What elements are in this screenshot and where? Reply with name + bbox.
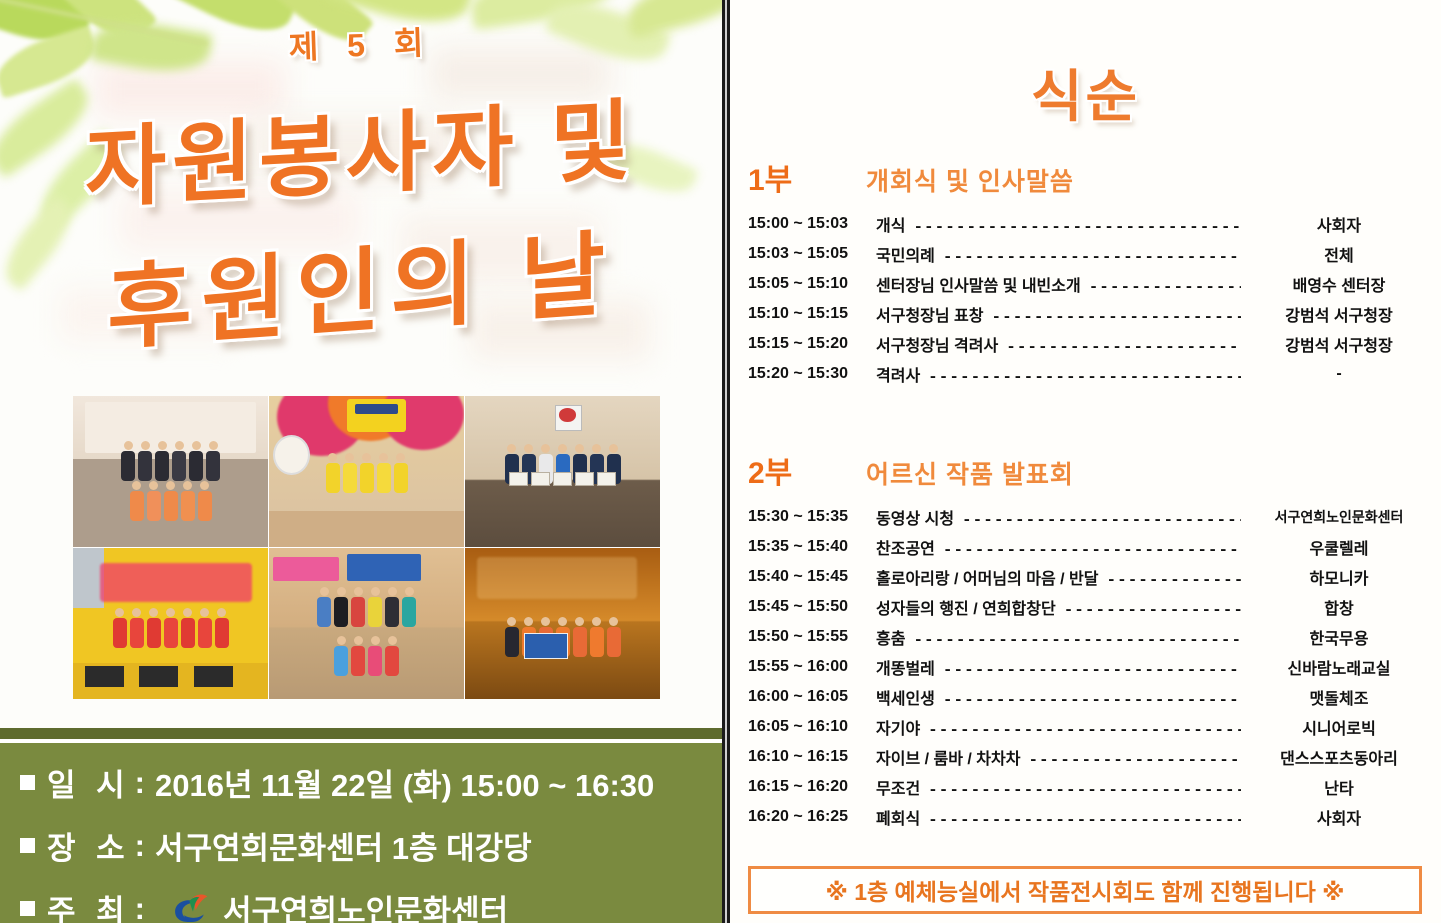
program-item: 개식 -------------------------------------… xyxy=(876,212,1241,236)
program-item: 성자들의 행진 / 연희합창단 ------------------------… xyxy=(876,595,1241,619)
info-row-organizer: 주 최 : 서구연희노인문화센터 xyxy=(20,886,710,923)
collage-photo-caption: 표창장 수여 기념촬영 xyxy=(465,530,660,543)
program-item-name: 서구청장님 표창 xyxy=(876,302,984,326)
program-item-name: 백세인생 xyxy=(876,685,935,709)
program-time: 16:20 ~ 16:25 xyxy=(748,808,876,826)
program-item: 백세인생 -----------------------------------… xyxy=(876,685,1241,709)
program-performer: 전체 xyxy=(1241,242,1437,266)
program-row: 15:55 ~ 16:00 개똥벌레 ---------------------… xyxy=(730,652,1441,682)
square-bullet-icon xyxy=(20,838,35,853)
program-performer: 시니어로빅 xyxy=(1241,715,1437,739)
square-bullet-icon xyxy=(20,901,35,916)
program-item: 개똥벌레 -----------------------------------… xyxy=(876,655,1241,679)
program-time: 15:00 ~ 15:03 xyxy=(748,215,876,233)
program-item: 폐회식 ------------------------------------… xyxy=(876,805,1241,829)
program-item-name: 개똥벌레 xyxy=(876,655,935,679)
program-row: 15:30 ~ 15:35 동영상 시청 -------------------… xyxy=(730,502,1441,532)
program-item: 격려사 ------------------------------------… xyxy=(876,362,1241,386)
info-value-datetime: 2016년 11월 22일 (화) 15:00 ~ 16:30 xyxy=(155,760,654,805)
section-title: 개회식 및 인사말씀 xyxy=(866,162,1074,198)
info-colon: : xyxy=(135,765,145,801)
section-rows: 15:30 ~ 15:35 동영상 시청 -------------------… xyxy=(730,502,1441,832)
dotted-leader: ----------------------------------------… xyxy=(943,248,1241,266)
dotted-leader: ----------------------------------------… xyxy=(913,631,1241,649)
program-item-name: 홀로아리랑 / 어머님의 마음 / 반달 xyxy=(876,565,1098,589)
program-item-name: 센터장님 인사말씀 및 내빈소개 xyxy=(876,272,1081,296)
event-info-list: 일 시 : 2016년 11월 22일 (화) 15:00 ~ 16:30 장 … xyxy=(20,760,710,923)
program-item: 국민의례 -----------------------------------… xyxy=(876,242,1241,266)
dotted-leader: ----------------------------------------… xyxy=(943,541,1241,559)
program-section-1: 1부 개회식 및 인사말씀 15:00 ~ 15:03 개식 ---------… xyxy=(730,155,1441,389)
info-colon: : xyxy=(135,891,145,923)
dotted-leader: ----------------------------------------… xyxy=(928,781,1241,799)
program-time: 15:35 ~ 15:40 xyxy=(748,538,876,556)
program-row: 15:50 ~ 15:55 흥춤 -----------------------… xyxy=(730,622,1441,652)
program-time: 16:10 ~ 16:15 xyxy=(748,748,876,766)
dotted-leader: ----------------------------------------… xyxy=(928,811,1241,829)
info-box-top-band xyxy=(0,728,722,739)
program-performer: 서구연희노인문화센터 xyxy=(1241,507,1437,527)
left-panel: 제 5 회 자원봉사자 및 후원인의 날 xyxy=(0,0,722,923)
program-item-name: 격려사 xyxy=(876,362,920,386)
program-item: 무조건 ------------------------------------… xyxy=(876,775,1241,799)
program-item-name: 개식 xyxy=(876,212,905,236)
event-info-box: 일 시 : 2016년 11월 22일 (화) 15:00 ~ 16:30 장 … xyxy=(0,728,722,923)
exhibition-notice-text: ※ 1층 예체능실에서 작품전시회도 함께 진행됩니다 ※ xyxy=(825,873,1344,907)
program-time: 15:50 ~ 15:55 xyxy=(748,628,876,646)
dotted-leader: ----------------------------------------… xyxy=(962,511,1241,529)
program-performer: 하모니카 xyxy=(1241,565,1437,589)
collage-photo-caption: 서구연희노인문화센터 체육행사 xyxy=(269,682,464,695)
program-row: 16:05 ~ 16:10 자기야 ----------------------… xyxy=(730,712,1441,742)
program-row: 15:03 ~ 15:05 국민의례 ---------------------… xyxy=(730,239,1441,269)
square-bullet-icon xyxy=(20,775,35,790)
info-box-divider-line xyxy=(0,739,722,743)
dotted-leader: ----------------------------------------… xyxy=(928,368,1241,386)
collage-photo: 서구 평생학습 축제 우수상 수상 xyxy=(465,548,660,699)
program-time: 15:05 ~ 15:10 xyxy=(748,275,876,293)
program-time: 16:15 ~ 16:20 xyxy=(748,778,876,796)
collage-photo: 제7회 서구복지 바람회 무대공연 xyxy=(73,548,268,699)
program-row: 15:20 ~ 15:30 격려사 ----------------------… xyxy=(730,359,1441,389)
program-row: 16:15 ~ 16:20 무조건 ----------------------… xyxy=(730,772,1441,802)
program-row: 16:00 ~ 16:05 백세인생 ---------------------… xyxy=(730,682,1441,712)
section-number: 2부 xyxy=(748,448,866,492)
section-header: 1부 개회식 및 인사말씀 xyxy=(730,155,1441,199)
program-time: 15:45 ~ 15:50 xyxy=(748,598,876,616)
program-row: 15:15 ~ 15:20 서구청장님 격려사 ----------------… xyxy=(730,329,1441,359)
seogu-logo-icon xyxy=(171,892,215,923)
program-item-name: 찬조공연 xyxy=(876,535,935,559)
program-performer: 신바람노래교실 xyxy=(1241,655,1437,679)
info-label-organizer: 주 최 xyxy=(47,886,131,923)
collage-photo-caption: 서구 평생학습 축제 우수상 수상 xyxy=(465,682,660,695)
info-value-organizer: 서구연희노인문화센터 xyxy=(223,886,508,923)
program-time: 15:20 ~ 15:30 xyxy=(748,365,876,383)
program-time: 15:30 ~ 15:35 xyxy=(748,508,876,526)
section-header: 2부 어르신 작품 발표회 xyxy=(730,448,1441,492)
program-performer: 강범석 서구청장 xyxy=(1241,332,1437,356)
program-row: 15:45 ~ 15:50 성자들의 행진 / 연희합창단 ----------… xyxy=(730,592,1441,622)
program-item-name: 서구청장님 격려사 xyxy=(876,332,998,356)
dotted-leader: ----------------------------------------… xyxy=(943,661,1241,679)
program-item: 찬조공연 -----------------------------------… xyxy=(876,535,1241,559)
program-item: 자기야 ------------------------------------… xyxy=(876,715,1241,739)
program-performer: 난타 xyxy=(1241,775,1437,799)
collage-photo: 서구연희노인문화센터 체육행사 xyxy=(269,548,464,699)
program-title: 식순 xyxy=(730,52,1441,133)
collage-photo-caption: 2016 한울실버 배움축제 단체사진 xyxy=(73,530,268,543)
program-item-name: 동영상 시청 xyxy=(876,505,954,529)
dotted-leader: ----------------------------------------… xyxy=(1006,338,1241,356)
section-number: 1부 xyxy=(748,155,866,199)
poster-title-block: 제 5 회 자원봉사자 및 후원인의 날 xyxy=(0,0,722,350)
program-time: 15:03 ~ 15:05 xyxy=(748,245,876,263)
title-ordinal: 제 5 회 xyxy=(0,7,722,78)
dotted-leader: ----------------------------------------… xyxy=(1028,751,1241,769)
dotted-leader: ----------------------------------------… xyxy=(913,218,1241,236)
program-time: 16:00 ~ 16:05 xyxy=(748,688,876,706)
program-row: 16:20 ~ 16:25 폐회식 ----------------------… xyxy=(730,802,1441,832)
info-label-location: 장 소 xyxy=(47,823,131,868)
program-item: 홀로아리랑 / 어머님의 마음 / 반달 -------------------… xyxy=(876,565,1241,589)
collage-photo-caption: 도전! 청춘 골든벨 노란티 참가자 xyxy=(269,530,464,543)
program-item: 센터장님 인사말씀 및 내빈소개 -----------------------… xyxy=(876,272,1241,296)
program-item: 동영상 시청 ---------------------------------… xyxy=(876,505,1241,529)
exhibition-notice-box: ※ 1층 예체능실에서 작품전시회도 함께 진행됩니다 ※ xyxy=(748,866,1422,914)
dotted-leader: ----------------------------------------… xyxy=(943,691,1241,709)
collage-photo: 표창장 수여 기념촬영 xyxy=(465,396,660,547)
program-item-name: 자이브 / 룸바 / 차차차 xyxy=(876,745,1020,769)
program-row: 15:40 ~ 15:45 홀로아리랑 / 어머님의 마음 / 반달 -----… xyxy=(730,562,1441,592)
program-performer: 우쿨렐레 xyxy=(1241,535,1437,559)
program-item: 자이브 / 룸바 / 차차차 -------------------------… xyxy=(876,745,1241,769)
dotted-leader: ----------------------------------------… xyxy=(1106,571,1241,589)
collage-photo-caption: 제7회 서구복지 바람회 무대공연 xyxy=(73,682,268,695)
program-item: 서구청장님 표창 -------------------------------… xyxy=(876,302,1241,326)
program-performer: 댄스스포츠동아리 xyxy=(1241,745,1437,769)
program-time: 16:05 ~ 16:10 xyxy=(748,718,876,736)
program-item: 흥춤 -------------------------------------… xyxy=(876,625,1241,649)
dotted-leader: ----------------------------------------… xyxy=(1089,278,1241,296)
program-performer: 맷돌체조 xyxy=(1241,685,1437,709)
program-row: 16:10 ~ 16:15 자이브 / 룸바 / 차차차 -----------… xyxy=(730,742,1441,772)
program-performer: 합창 xyxy=(1241,595,1437,619)
collage-photo: 도전! 청춘 골든벨 노란티 참가자 xyxy=(269,396,464,547)
panel-divider xyxy=(722,0,730,923)
program-performer: 사회자 xyxy=(1241,212,1437,236)
program-item-name: 자기야 xyxy=(876,715,920,739)
info-row-location: 장 소 : 서구연희문화센터 1층 대강당 xyxy=(20,823,710,868)
program-time: 15:15 ~ 15:20 xyxy=(748,335,876,353)
info-colon: : xyxy=(135,828,145,864)
poster-root: 제 5 회 자원봉사자 및 후원인의 날 xyxy=(0,0,1441,923)
program-time: 15:10 ~ 15:15 xyxy=(748,305,876,323)
program-item-name: 무조건 xyxy=(876,775,920,799)
program-performer: 배영수 센터장 xyxy=(1241,272,1437,296)
program-row: 15:05 ~ 15:10 센터장님 인사말씀 및 내빈소개 ---------… xyxy=(730,269,1441,299)
photo-collage: 2016 한울실버 배움축제 단체사진 도전! 청 xyxy=(73,396,660,699)
section-rows: 15:00 ~ 15:03 개식 -----------------------… xyxy=(730,209,1441,389)
program-item-name: 흥춤 xyxy=(876,625,905,649)
program-section-2: 2부 어르신 작품 발표회 15:30 ~ 15:35 동영상 시청 -----… xyxy=(730,448,1441,832)
program-row: 15:00 ~ 15:03 개식 -----------------------… xyxy=(730,209,1441,239)
program-row: 15:10 ~ 15:15 서구청장님 표창 -----------------… xyxy=(730,299,1441,329)
program-time: 15:40 ~ 15:45 xyxy=(748,568,876,586)
program-performer: 강범석 서구청장 xyxy=(1241,302,1437,326)
info-label-datetime: 일 시 xyxy=(47,760,131,805)
section-title: 어르신 작품 발표회 xyxy=(866,455,1074,491)
program-row: 15:35 ~ 15:40 찬조공연 ---------------------… xyxy=(730,532,1441,562)
info-row-datetime: 일 시 : 2016년 11월 22일 (화) 15:00 ~ 16:30 xyxy=(20,760,710,805)
program-performer: 한국무용 xyxy=(1241,625,1437,649)
dotted-leader: ----------------------------------------… xyxy=(1064,601,1241,619)
program-item: 서구청장님 격려사 ------------------------------… xyxy=(876,332,1241,356)
program-time: 15:55 ~ 16:00 xyxy=(748,658,876,676)
program-item-name: 국민의례 xyxy=(876,242,935,266)
dotted-leader: ----------------------------------------… xyxy=(928,721,1241,739)
collage-photo: 2016 한울실버 배움축제 단체사진 xyxy=(73,396,268,547)
dotted-leader: ----------------------------------------… xyxy=(992,308,1242,326)
program-performer: - xyxy=(1241,365,1437,383)
program-item-name: 성자들의 행진 / 연희합창단 xyxy=(876,595,1056,619)
info-value-location: 서구연희문화센터 1층 대강당 xyxy=(155,823,532,868)
program-performer: 사회자 xyxy=(1241,805,1437,829)
right-panel: 식순 1부 개회식 및 인사말씀 15:00 ~ 15:03 개식 ------… xyxy=(730,0,1441,923)
program-item-name: 폐회식 xyxy=(876,805,920,829)
